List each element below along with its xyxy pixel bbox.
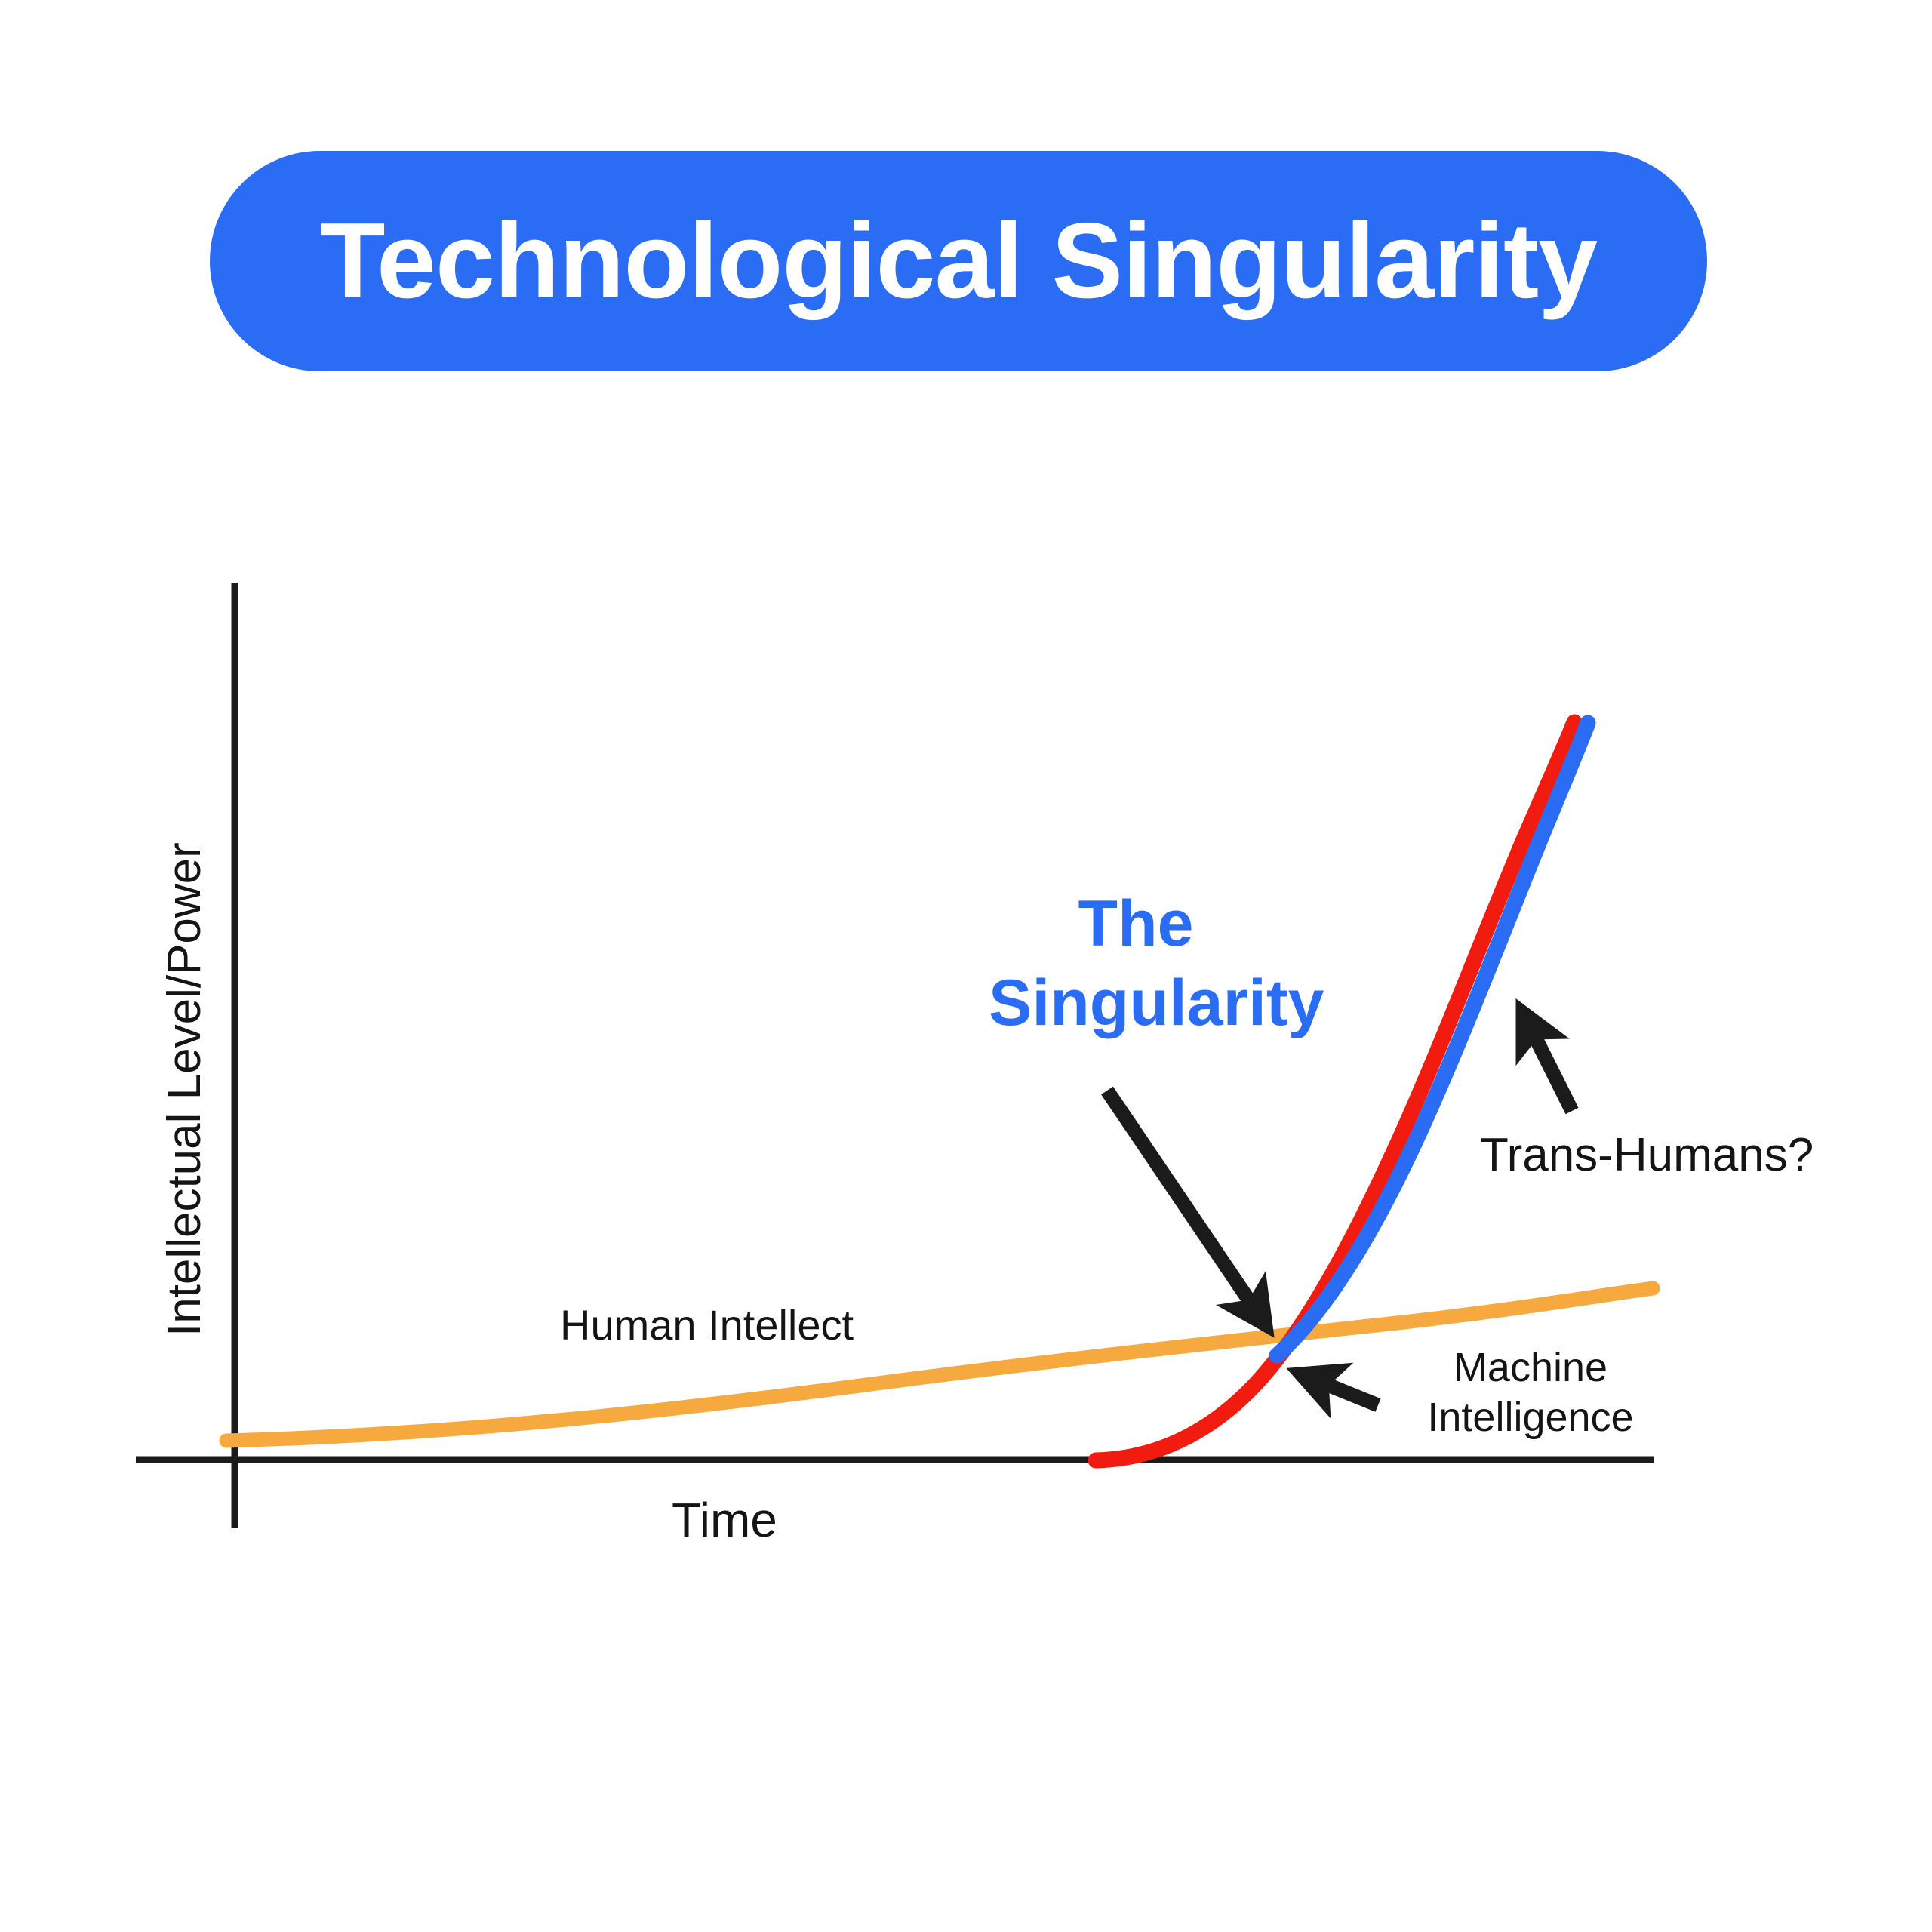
x-axis-label: Time	[672, 1492, 777, 1549]
the-singularity-label-line1: The	[989, 884, 1283, 964]
human-intellect-label: Human Intellect	[560, 1300, 854, 1350]
trans-humans-arrow	[1522, 1011, 1572, 1111]
trans-humans-label: Trans-Humans?	[1480, 1128, 1814, 1183]
the-singularity-label: The Singularity	[989, 884, 1283, 1043]
machine-intelligence-label: Machine Intelligence	[1417, 1343, 1644, 1443]
singularity-arrow	[1107, 1091, 1266, 1326]
machine-intelligence-arrow	[1300, 1374, 1378, 1405]
machine-intelligence-label-line1: Machine	[1417, 1343, 1644, 1393]
y-axis-label: Intellectual Level/Power	[158, 842, 211, 1337]
machine-intelligence-label-line2: Intelligence	[1417, 1393, 1644, 1443]
the-singularity-label-line2: Singularity	[989, 964, 1283, 1043]
page-title: Technological Singularity	[320, 208, 1597, 315]
series-trans-humans	[1277, 723, 1588, 1355]
infographic-canvas: Technological Singularity Intellectual L…	[0, 0, 1932, 1932]
title-banner: Technological Singularity	[210, 151, 1707, 371]
